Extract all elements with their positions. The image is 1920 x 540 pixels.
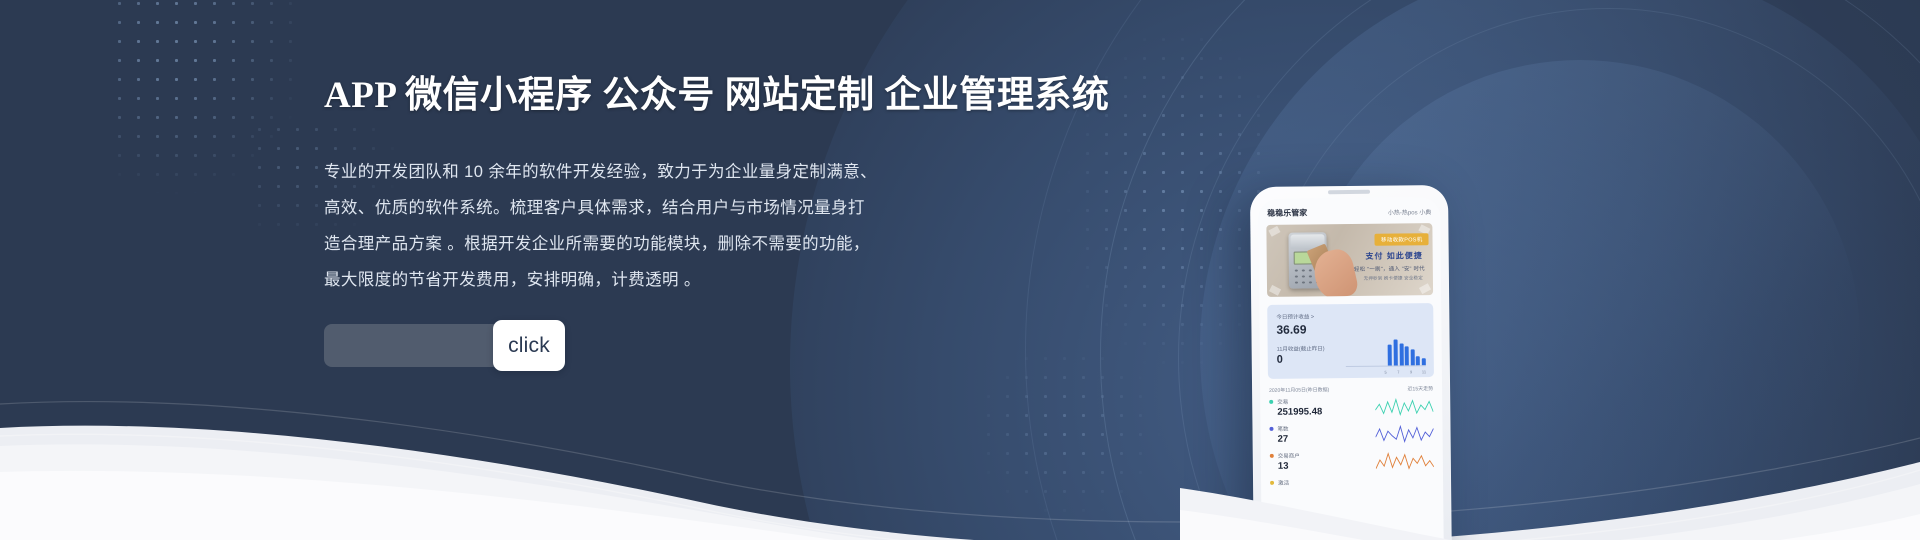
cta-group: click [324, 324, 564, 367]
stats-row-sparkline [1375, 396, 1433, 417]
promo-subline: 轻松 "一刷"，通入 "安" 时代 [1354, 264, 1425, 273]
tape-corner-icon [1419, 283, 1431, 294]
hero-description: 专业的开发团队和 10 余年的软件开发经验，致力于为企业量身定制满意、 高效、优… [324, 154, 1024, 298]
stats-trend-label: 近15天走势 [1407, 385, 1433, 392]
series-color-dot [1269, 427, 1273, 431]
description-line-2: 高效、优质的软件系统。梳理客户具体需求，结合用户与市场情况量身打 [324, 190, 1024, 226]
stats-row-label: 交易 [1277, 397, 1322, 405]
today-earnings-label: 今日预计收益 > [1276, 311, 1424, 321]
hero-banner: APP 微信小程序 公众号 网站定制 企业管理系统 专业的开发团队和 10 余年… [0, 0, 1920, 540]
phone-screen: 稳稳乐管家 小热-热pos 小典 移动收款POS机 支付 如此便捷 轻松 "一刷… [1258, 197, 1444, 540]
stats-row-value: 251995.48 [1277, 406, 1322, 417]
series-color-dot [1270, 481, 1274, 485]
earnings-card[interactable]: 今日预计收益 > 36.69 11月收益(截止昨日) 0 57911 [1267, 303, 1434, 379]
app-header: 稳稳乐管家 小热-热pos 小典 [1258, 197, 1440, 225]
stats-row-label: 交易商户 [1278, 452, 1300, 460]
stats-section: 2020年11月05日(昨日数据) 近15天走势 交易251995.48笔数27… [1260, 385, 1443, 488]
promo-footnote: 无押秒到 刷卡便捷 安全稳定 [1364, 275, 1423, 282]
stats-row-label: 笔数 [1277, 425, 1288, 433]
promo-banner[interactable]: 移动收款POS机 支付 如此便捷 轻松 "一刷"，通入 "安" 时代 无押秒到 … [1266, 223, 1433, 297]
stats-row-label: 激活 [1278, 479, 1289, 487]
stats-row[interactable]: 激活 [1270, 477, 1434, 488]
stats-row-value: 13 [1278, 461, 1300, 472]
app-title: 稳稳乐管家 [1267, 207, 1307, 218]
earnings-bar-chart [1388, 337, 1426, 365]
stats-row-sparkline [1376, 450, 1434, 471]
series-color-dot [1270, 454, 1274, 458]
hero-copy: APP 微信小程序 公众号 网站定制 企业管理系统 专业的开发团队和 10 余年… [324, 74, 1024, 367]
today-earnings-value: 36.69 [1276, 321, 1424, 337]
promo-ribbon: 移动收款POS机 [1375, 233, 1429, 246]
app-account-label: 小热-热pos 小典 [1388, 207, 1431, 216]
stats-row-sparkline [1375, 423, 1433, 444]
tape-corner-icon [1269, 285, 1281, 296]
click-button[interactable]: click [493, 320, 565, 371]
stats-date-label: 2020年11月05日(昨日数据) [1269, 386, 1329, 394]
phone-speaker [1328, 190, 1370, 194]
tape-corner-icon [1268, 226, 1280, 237]
series-color-dot [1269, 400, 1273, 404]
promo-headline: 支付 如此便捷 [1365, 250, 1422, 262]
stats-row[interactable]: 交易251995.48 [1269, 396, 1433, 418]
earnings-chart-ticks: 57911 [1384, 369, 1426, 374]
page-title: APP 微信小程序 公众号 网站定制 企业管理系统 [324, 74, 1024, 118]
description-line-1: 专业的开发团队和 10 余年的软件开发经验，致力于为企业量身定制满意、 [324, 154, 1024, 190]
stats-row-value: 27 [1278, 434, 1289, 445]
stats-row[interactable]: 笔数27 [1269, 423, 1433, 445]
stats-row[interactable]: 交易商户13 [1270, 450, 1434, 472]
description-line-3: 造合理产品方案 。根据开发企业所需要的功能模块，删除不需要的功能， [324, 226, 1024, 262]
stats-row-list: 交易251995.48笔数27交易商户13激活 [1269, 396, 1434, 488]
phone-mockup: 稳稳乐管家 小热-热pos 小典 移动收款POS机 支付 如此便捷 轻松 "一刷… [1250, 185, 1452, 540]
description-line-4: 最大限度的节省开发费用，安排明确，计费透明 。 [324, 262, 1024, 298]
